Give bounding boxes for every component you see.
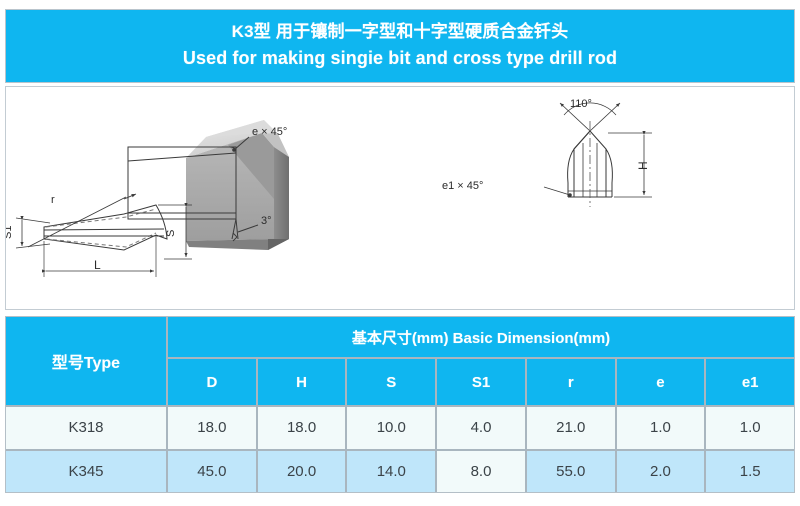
header-col-S: S bbox=[347, 359, 437, 405]
label-H: H bbox=[636, 161, 650, 170]
cell-r: 21.0 bbox=[527, 407, 617, 449]
header-col-e: e bbox=[617, 359, 707, 405]
header-col-H: H bbox=[258, 359, 348, 405]
banner-title-cn: K3型 用于镶制一字型和十字型硬质合金钎头 bbox=[232, 21, 569, 44]
header-col-r: r bbox=[527, 359, 617, 405]
label-angle-110: 110° bbox=[570, 98, 592, 110]
cell-e: 2.0 bbox=[617, 451, 707, 493]
header-columns: D H S S1 r e e1 bbox=[168, 359, 794, 405]
cell-e1: 1.5 bbox=[706, 451, 794, 493]
label-S: S bbox=[165, 230, 177, 237]
cell-type: K345 bbox=[6, 451, 168, 493]
cell-S1: 4.0 bbox=[437, 407, 527, 449]
cell-type: K318 bbox=[6, 407, 168, 449]
cell-e: 1.0 bbox=[617, 407, 707, 449]
label-angle-3: 3° bbox=[261, 215, 272, 227]
cell-H: 18.0 bbox=[258, 407, 348, 449]
cell-H: 20.0 bbox=[258, 451, 348, 493]
header-right-group: 基本尺寸(mm) Basic Dimension(mm) D H S S1 r … bbox=[168, 317, 794, 405]
product-spec-page: K3型 用于镶制一字型和十字型硬质合金钎头 Used for making si… bbox=[0, 0, 800, 506]
label-S1: S1 bbox=[6, 226, 14, 239]
technical-drawing-panel: e × 45° 3° bbox=[5, 86, 795, 310]
cell-D: 18.0 bbox=[168, 407, 258, 449]
table-row: K345 45.0 20.0 14.0 8.0 55.0 2.0 1.5 bbox=[6, 449, 794, 493]
header-type: 型号Type bbox=[6, 317, 168, 405]
banner-title-en: Used for making singie bit and cross typ… bbox=[183, 46, 617, 70]
cell-e1: 1.0 bbox=[706, 407, 794, 449]
technical-drawing-svg: e × 45° 3° bbox=[6, 87, 794, 309]
cell-D: 45.0 bbox=[168, 451, 258, 493]
page-banner: K3型 用于镶制一字型和十字型硬质合金钎头 Used for making si… bbox=[5, 9, 795, 83]
end-view bbox=[544, 103, 652, 207]
label-r: r bbox=[51, 194, 55, 206]
dimension-table: 型号Type 基本尺寸(mm) Basic Dimension(mm) D H … bbox=[5, 316, 795, 493]
cell-S: 14.0 bbox=[347, 451, 437, 493]
table-header: 型号Type 基本尺寸(mm) Basic Dimension(mm) D H … bbox=[6, 317, 794, 405]
header-basic-dimension: 基本尺寸(mm) Basic Dimension(mm) bbox=[168, 317, 794, 359]
label-L: L bbox=[94, 258, 101, 272]
header-col-D: D bbox=[168, 359, 258, 405]
cell-S1-highlighted: 8.0 bbox=[437, 451, 527, 493]
label-e-45: e × 45° bbox=[252, 126, 287, 138]
label-e1-45: e1 × 45° bbox=[442, 180, 483, 192]
cell-S: 10.0 bbox=[347, 407, 437, 449]
header-col-e1: e1 bbox=[706, 359, 794, 405]
header-col-S1: S1 bbox=[437, 359, 527, 405]
cell-r: 55.0 bbox=[527, 451, 617, 493]
table-row: K318 18.0 18.0 10.0 4.0 21.0 1.0 1.0 bbox=[6, 405, 794, 449]
